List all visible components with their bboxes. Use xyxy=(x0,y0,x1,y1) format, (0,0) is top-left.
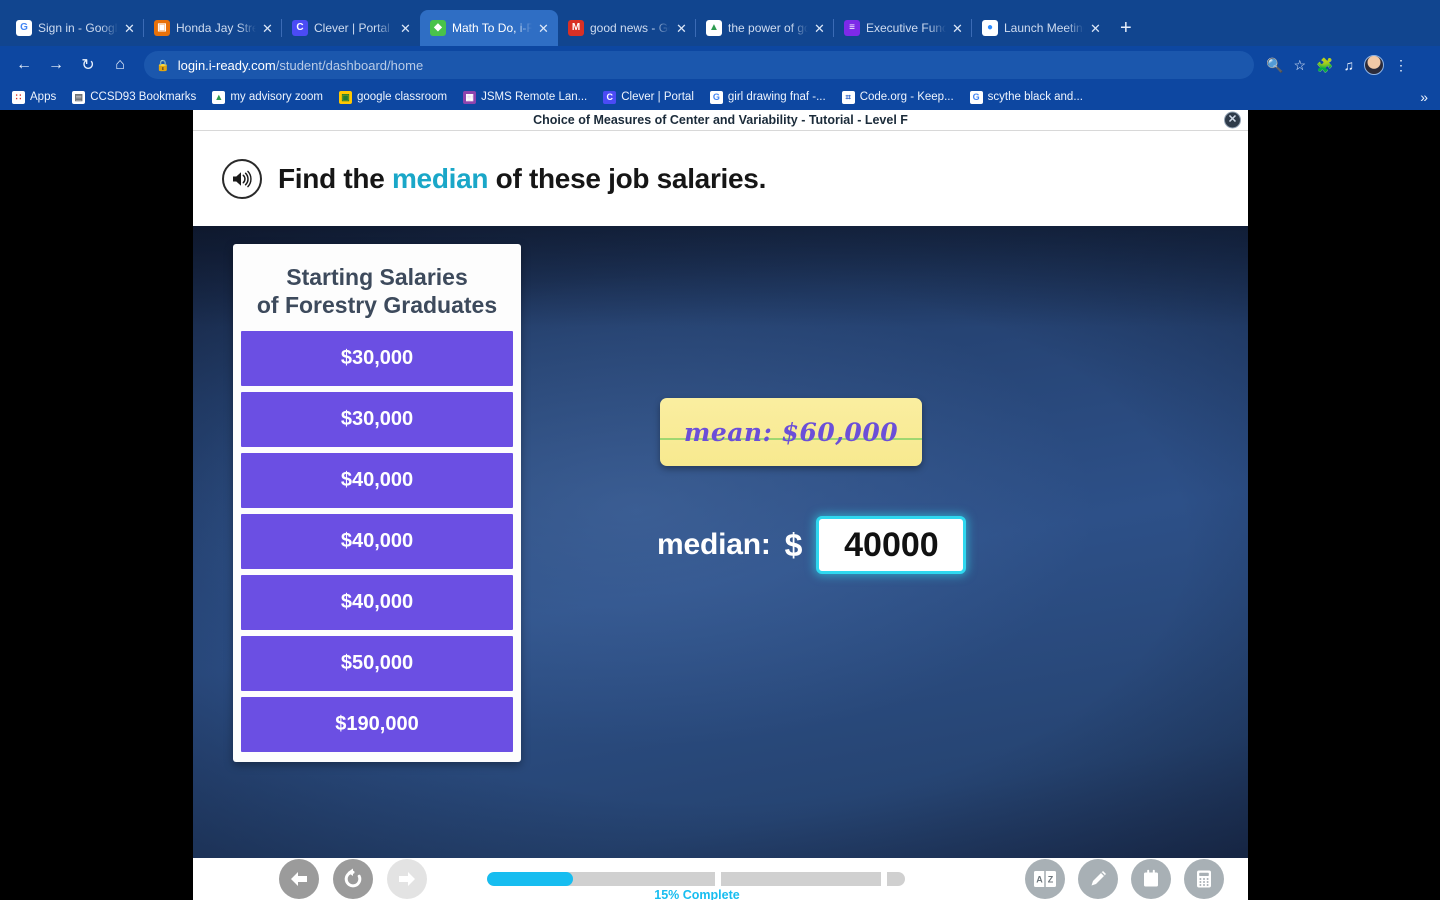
mean-note-text: mean: $60,000 xyxy=(684,418,898,447)
prompt-before: Find the xyxy=(278,163,392,194)
browser-tab[interactable]: ▣ Honda Jay Stream ✕ xyxy=(144,10,282,46)
avatar[interactable] xyxy=(1364,55,1384,75)
median-answer-input[interactable]: 40000 xyxy=(816,516,966,574)
browser-chrome: G Sign in - Google A ✕ ▣ Honda Jay Strea… xyxy=(0,0,1440,110)
salary-table-title: Starting Salaries of Forestry Graduates xyxy=(241,254,513,331)
bookmark-star-icon[interactable]: ☆ xyxy=(1293,57,1306,74)
lesson-title: Choice of Measures of Center and Variabi… xyxy=(533,113,908,127)
extensions-puzzle-icon[interactable]: 🧩 xyxy=(1316,57,1333,74)
bookmark-label: girl drawing fnaf -... xyxy=(728,91,826,103)
apps-grid-icon: ∷ xyxy=(12,91,25,104)
progress-track xyxy=(487,872,907,886)
clever-icon: C xyxy=(603,91,616,104)
progress-segment xyxy=(487,872,715,886)
folder-icon: ▤ xyxy=(72,91,85,104)
footer-nav-group xyxy=(279,859,427,899)
google-icon: G xyxy=(16,20,32,36)
bookmark-label: Clever | Portal xyxy=(621,91,694,103)
bookmark-item[interactable]: ▤CCSD93 Bookmarks xyxy=(72,91,196,104)
salary-table-title-line1: Starting Salaries xyxy=(245,263,509,291)
bookmark-item[interactable]: Ggirl drawing fnaf -... xyxy=(710,91,826,104)
bookmark-item[interactable]: ▦JSMS Remote Lan... xyxy=(463,91,587,104)
browser-tab[interactable]: ▲ the power of good ✕ xyxy=(696,10,834,46)
bookmarks-overflow-icon[interactable]: » xyxy=(1420,89,1428,105)
gmail-icon: M xyxy=(568,20,584,36)
tab-title: Executive Functio xyxy=(866,21,946,35)
browser-tab[interactable]: ≡ Executive Functio ✕ xyxy=(834,10,972,46)
svg-text:Z: Z xyxy=(1048,875,1054,885)
prompt-bar: Find the median of these job salaries. xyxy=(193,131,1248,226)
median-answer-row: median: $ 40000 xyxy=(657,516,966,574)
code-org-icon: ⌗ xyxy=(842,91,855,104)
tab-close-icon[interactable]: ✕ xyxy=(814,22,828,35)
bookmark-item[interactable]: ∷Apps xyxy=(12,91,56,104)
bookmark-item[interactable]: ▲my advisory zoom xyxy=(212,91,323,104)
bookmark-item[interactable]: ▣google classroom xyxy=(339,91,447,104)
chrome-menu-icon[interactable]: ⋮ xyxy=(1394,57,1408,74)
table-row: $190,000 xyxy=(241,697,513,752)
lesson-stage: Starting Salaries of Forestry Graduates … xyxy=(193,226,1248,858)
browser-tab[interactable]: ● Launch Meeting - ✕ xyxy=(972,10,1110,46)
media-control-icon[interactable]: ♫ xyxy=(1343,57,1354,73)
back-button[interactable]: ← xyxy=(10,51,38,79)
toolbar-icons: 🔍 ☆ 🧩 ♫ ⋮ xyxy=(1266,55,1408,75)
tab-close-icon[interactable]: ✕ xyxy=(400,22,414,35)
lock-icon: 🔒 xyxy=(156,59,170,72)
tab-close-icon[interactable]: ✕ xyxy=(1090,22,1104,35)
tab-title: Launch Meeting - xyxy=(1004,21,1084,35)
table-row: $30,000 xyxy=(241,331,513,386)
bookmark-item[interactable]: CClever | Portal xyxy=(603,91,694,104)
tab-title: Clever | Portal xyxy=(314,21,394,35)
browser-tab-active[interactable]: ◆ Math To Do, i-Rea ✕ xyxy=(420,10,558,46)
table-row: $40,000 xyxy=(241,514,513,569)
browser-tab[interactable]: M good news - Goog ✕ xyxy=(558,10,696,46)
classroom-icon: ▣ xyxy=(339,91,352,104)
arrow-right-icon[interactable] xyxy=(387,859,427,899)
lesson-app: Choice of Measures of Center and Variabi… xyxy=(193,110,1248,900)
bookmarks-bar: ∷Apps ▤CCSD93 Bookmarks ▲my advisory zoo… xyxy=(0,84,1440,110)
reload-button[interactable]: ↻ xyxy=(74,51,102,79)
forward-button[interactable]: → xyxy=(42,51,70,79)
clever-icon: C xyxy=(292,20,308,36)
table-row: $30,000 xyxy=(241,392,513,447)
google-drive-icon: ▲ xyxy=(212,91,225,104)
prompt-question: Find the median of these job salaries. xyxy=(278,163,766,195)
mean-sticky-note: mean: $60,000 xyxy=(660,398,922,466)
new-tab-button[interactable]: + xyxy=(1120,18,1132,38)
progress-bar: 15% Complete xyxy=(487,872,907,886)
tab-close-icon[interactable]: ✕ xyxy=(538,22,552,35)
browser-tab[interactable]: G Sign in - Google A ✕ xyxy=(6,10,144,46)
bookmark-item[interactable]: ⌗Code.org - Keep... xyxy=(842,91,954,104)
tab-title: Math To Do, i-Rea xyxy=(452,21,532,35)
annotate-pencil-icon[interactable] xyxy=(1078,859,1118,899)
browser-tab[interactable]: C Clever | Portal ✕ xyxy=(282,10,420,46)
close-icon[interactable]: ✕ xyxy=(1224,112,1241,129)
calculator-icon[interactable] xyxy=(1184,859,1224,899)
url-domain: login.i-ready.com xyxy=(178,58,276,73)
salary-table-title-line2: of Forestry Graduates xyxy=(245,291,509,319)
progress-label: 15% Complete xyxy=(487,888,907,900)
bookmark-label: Apps xyxy=(30,91,56,103)
tab-title: Honda Jay Stream xyxy=(176,21,256,35)
table-row: $40,000 xyxy=(241,453,513,508)
tab-title: good news - Goog xyxy=(590,21,670,35)
browser-toolbar: ← → ↻ ⌂ 🔒 login.i-ready.com/student/dash… xyxy=(0,46,1440,84)
tab-close-icon[interactable]: ✕ xyxy=(676,22,690,35)
replay-circle-icon[interactable] xyxy=(333,859,373,899)
iready-cube-icon: ◆ xyxy=(430,20,446,36)
svg-text:A: A xyxy=(1036,875,1043,885)
dictionary-tool-icon[interactable]: A Z xyxy=(1025,859,1065,899)
prompt-highlight: median xyxy=(392,163,488,194)
sites-icon: ▦ xyxy=(463,91,476,104)
progress-fill xyxy=(487,872,573,886)
bookmark-label: JSMS Remote Lan... xyxy=(481,91,587,103)
bookmark-label: my advisory zoom xyxy=(230,91,323,103)
tab-title: the power of good xyxy=(728,21,808,35)
home-button[interactable]: ⌂ xyxy=(106,51,134,79)
footer-tools: A Z xyxy=(1025,859,1224,899)
tab-close-icon[interactable]: ✕ xyxy=(952,22,966,35)
url-text: login.i-ready.com/student/dashboard/home xyxy=(178,58,423,73)
google-drive-icon: ▲ xyxy=(706,20,722,36)
google-icon: G xyxy=(710,91,723,104)
google-icon: G xyxy=(970,91,983,104)
address-bar[interactable]: 🔒 login.i-ready.com/student/dashboard/ho… xyxy=(144,51,1254,79)
bookmark-item[interactable]: Gscythe black and... xyxy=(970,91,1083,104)
progress-segment xyxy=(721,872,881,886)
bookmark-label: CCSD93 Bookmarks xyxy=(90,91,196,103)
image-icon: ▣ xyxy=(154,20,170,36)
lesson-titlebar: Choice of Measures of Center and Variabi… xyxy=(193,110,1248,131)
bookmark-label: google classroom xyxy=(357,91,447,103)
tab-close-icon[interactable]: ✕ xyxy=(124,22,138,35)
bookmark-label: scythe black and... xyxy=(988,91,1083,103)
table-row: $50,000 xyxy=(241,636,513,691)
tab-strip: G Sign in - Google A ✕ ▣ Honda Jay Strea… xyxy=(0,0,1440,46)
speaker-audio-icon[interactable] xyxy=(222,159,262,199)
prompt-after: of these job salaries. xyxy=(488,163,766,194)
arrow-left-icon[interactable] xyxy=(279,859,319,899)
salary-table-card: Starting Salaries of Forestry Graduates … xyxy=(233,244,521,762)
tab-title: Sign in - Google A xyxy=(38,21,118,35)
dollar-sign: $ xyxy=(785,527,803,564)
url-path: /student/dashboard/home xyxy=(276,58,423,73)
search-icon[interactable]: 🔍 xyxy=(1266,57,1283,74)
bookmark-label: Code.org - Keep... xyxy=(860,91,954,103)
notepad-icon[interactable] xyxy=(1131,859,1171,899)
table-row: $40,000 xyxy=(241,575,513,630)
lesson-footer: 15% Complete A Z xyxy=(193,858,1248,900)
progress-segment xyxy=(887,872,905,886)
page-letterbox: Choice of Measures of Center and Variabi… xyxy=(0,110,1440,900)
tab-close-icon[interactable]: ✕ xyxy=(262,22,276,35)
median-label: median: xyxy=(657,528,771,562)
zoom-icon: ● xyxy=(982,20,998,36)
list-icon: ≡ xyxy=(844,20,860,36)
